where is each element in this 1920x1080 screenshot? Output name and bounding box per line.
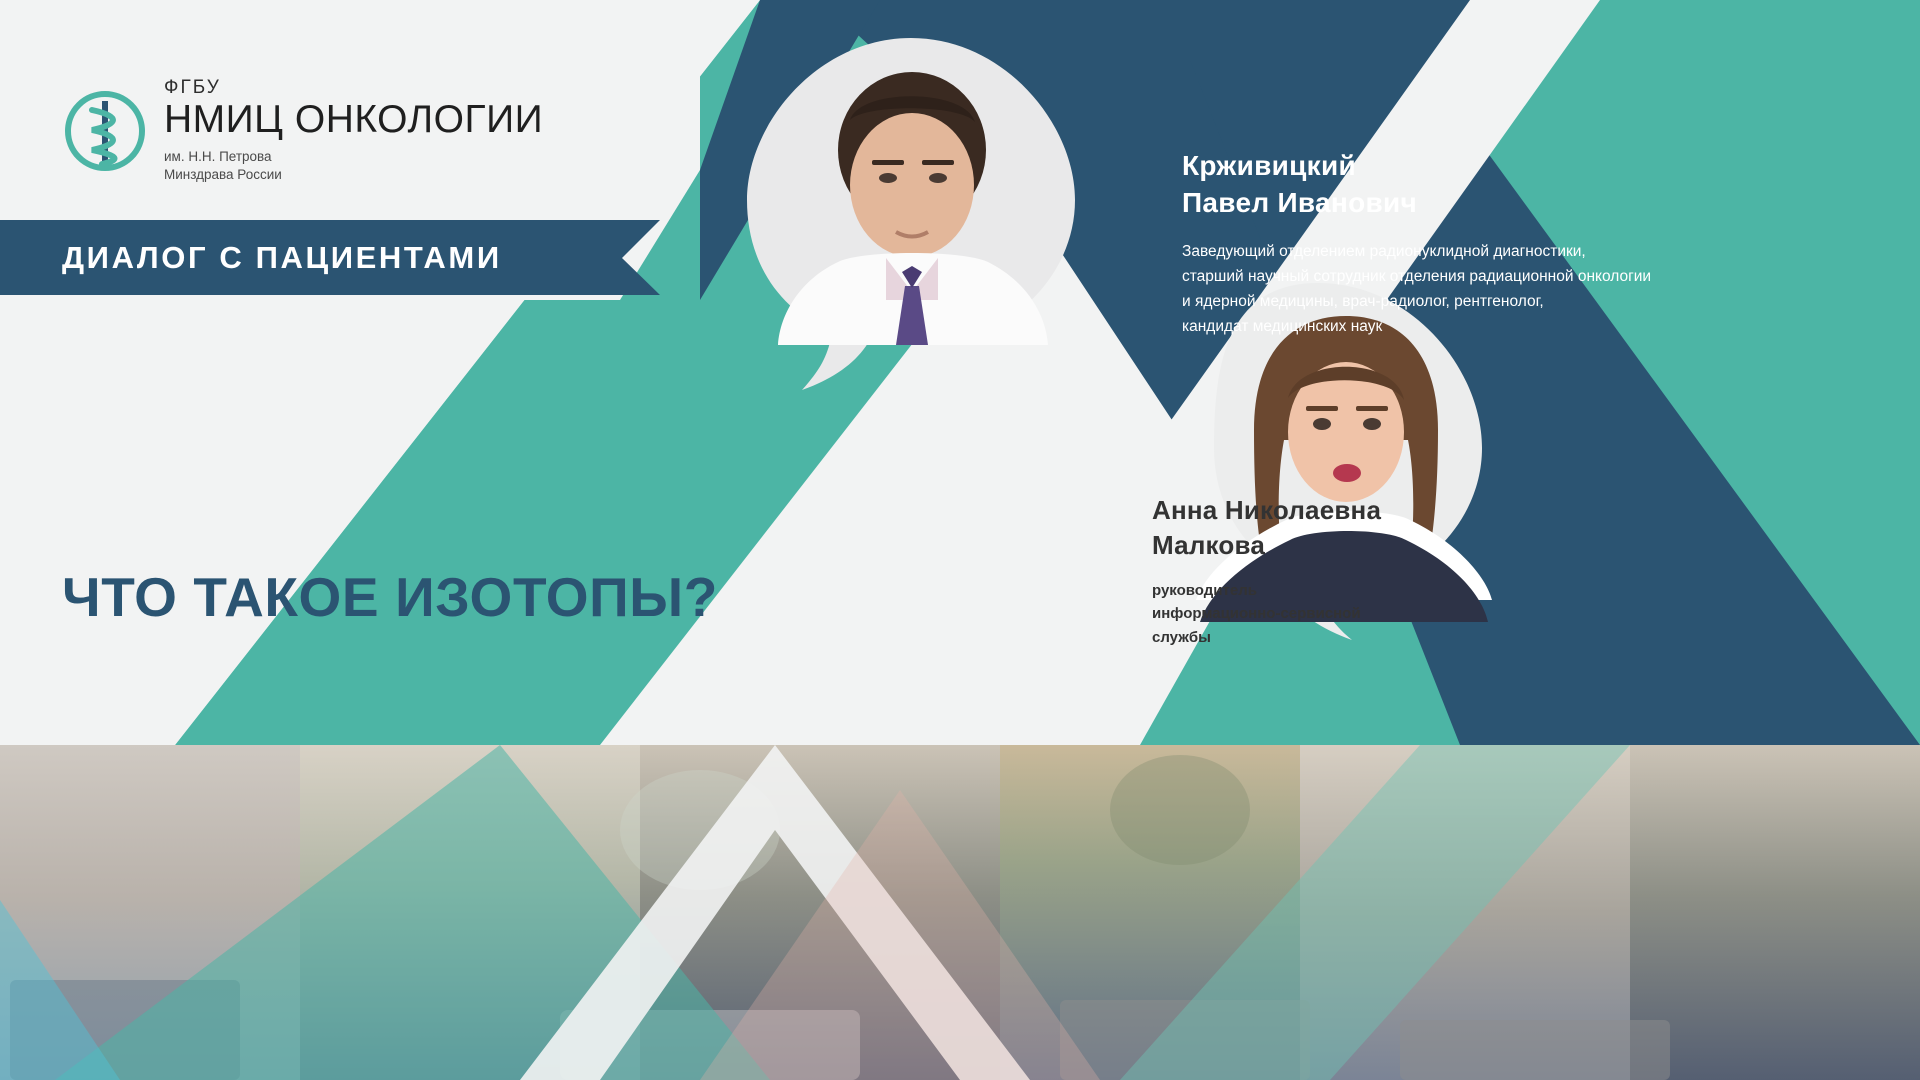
speaker-1-desc-line-3: и ядерной медицины, врач-радиолог, рентг… (1182, 289, 1842, 314)
speaker-1-description: Заведующий отделением радионуклидной диа… (1182, 239, 1842, 339)
logo-subtitle: им. Н.Н. Петрова Минздрава России (164, 148, 543, 184)
logo-name: НМИЦ ОНКОЛОГИИ (164, 99, 543, 141)
logo-prefix: ФГБУ (164, 78, 543, 98)
speaker-1-name-line-2: Павел Иванович (1182, 185, 1842, 222)
organization-logo: ФГБУ НМИЦ ОНКОЛОГИИ им. Н.Н. Петрова Мин… (62, 78, 543, 184)
speaker-1-desc-line-1: Заведующий отделением радионуклидной диа… (1182, 239, 1842, 264)
speaker-2-name-line-1: Анна Николаевна (1152, 493, 1572, 528)
speaker-1-name-line-1: Крживицкий (1182, 148, 1842, 185)
caduceus-circle-icon (62, 88, 148, 174)
section-banner: ДИАЛОГ С ПАЦИЕНТАМИ (0, 220, 660, 295)
speaker-2-desc-line-1: руководитель (1152, 579, 1572, 602)
speaker-1-desc-line-2: старший научный сотрудник отделения ради… (1182, 264, 1842, 289)
speaker-2-info: Анна Николаевна Малкова руководитель инф… (1152, 493, 1572, 649)
speaker-1-portrait-bubble (747, 38, 1075, 390)
logo-wordmark: ФГБУ НМИЦ ОНКОЛОГИИ им. Н.Н. Петрова Мин… (164, 78, 543, 184)
speaker-2-name-line-2: Малкова (1152, 528, 1572, 563)
speaker-2-desc-line-3: службы (1152, 626, 1572, 649)
logo-subtitle-line-2: Минздрава России (164, 166, 543, 184)
speaker-1-desc-line-4: кандидат медицинских наук (1182, 314, 1842, 339)
speaker-2-description: руководитель информационно-сервисной слу… (1152, 579, 1572, 649)
page-title: ЧТО ТАКОЕ ИЗОТОПЫ? (62, 565, 718, 629)
speaker-1-info: Крживицкий Павел Иванович Заведующий отд… (1182, 148, 1842, 339)
speaker-2-desc-line-2: информационно-сервисной (1152, 602, 1572, 625)
presentation-slide: ФГБУ НМИЦ ОНКОЛОГИИ им. Н.Н. Петрова Мин… (0, 0, 1920, 1080)
logo-subtitle-line-1: им. Н.Н. Петрова (164, 148, 543, 166)
banner-label: ДИАЛОГ С ПАЦИЕНТАМИ (62, 220, 502, 295)
